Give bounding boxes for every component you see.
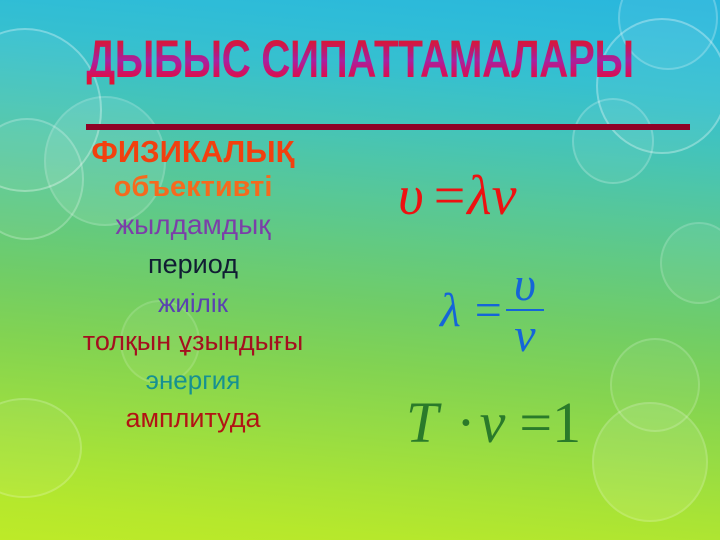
bubble-decoration-icon (572, 98, 654, 184)
list-item: период (8, 251, 378, 278)
bubble-decoration-icon (610, 338, 700, 432)
list-item: жылдамдық (8, 211, 378, 239)
formula-speed-lhs: υ (398, 165, 424, 227)
list-item: объективті (8, 173, 378, 202)
formula-period-lhs: T (406, 390, 438, 455)
formula-speed-operator: = (434, 165, 466, 227)
bubble-decoration-icon (660, 222, 720, 304)
list-item: жиілік (8, 290, 378, 316)
fraction-numerator: υ (506, 262, 544, 308)
formula-wavelength-operator: = (475, 287, 502, 335)
bubble-decoration-icon (592, 402, 708, 522)
fraction: υ ν (506, 262, 544, 359)
formula-period-frequency: T·ν=1 (406, 394, 581, 452)
formula-speed-lambda: λ (467, 165, 491, 227)
slide-title: ДЫБЫС СИПАТТАМАЛАРЫ (50, 32, 669, 85)
formula-speed-nu: ν (492, 165, 517, 227)
formula-wavelength: λ = υ ν (440, 262, 544, 359)
sound-characteristics-list: ФИЗИКАЛЫҚ объективті жылдамдық период жи… (8, 136, 378, 432)
formula-period-operator: = (519, 390, 552, 455)
slide-canvas: ДЫБЫС СИПАТТАМАЛАРЫ ФИЗИКАЛЫҚ объективті… (0, 0, 720, 540)
title-divider (86, 124, 690, 130)
list-item: амплитуда (8, 405, 378, 432)
list-item: ФИЗИКАЛЫҚ (8, 136, 378, 167)
formula-wavelength-lhs: λ (440, 287, 461, 335)
list-item: энергия (8, 367, 378, 393)
fraction-denominator: ν (506, 313, 543, 359)
multiplication-dot-icon: · (456, 390, 475, 455)
list-item: толқын ұзындығы (8, 328, 378, 355)
formula-period-nu: ν (480, 390, 506, 455)
formula-period-result: 1 (552, 390, 581, 455)
formula-speed: υ=λν (398, 168, 516, 224)
